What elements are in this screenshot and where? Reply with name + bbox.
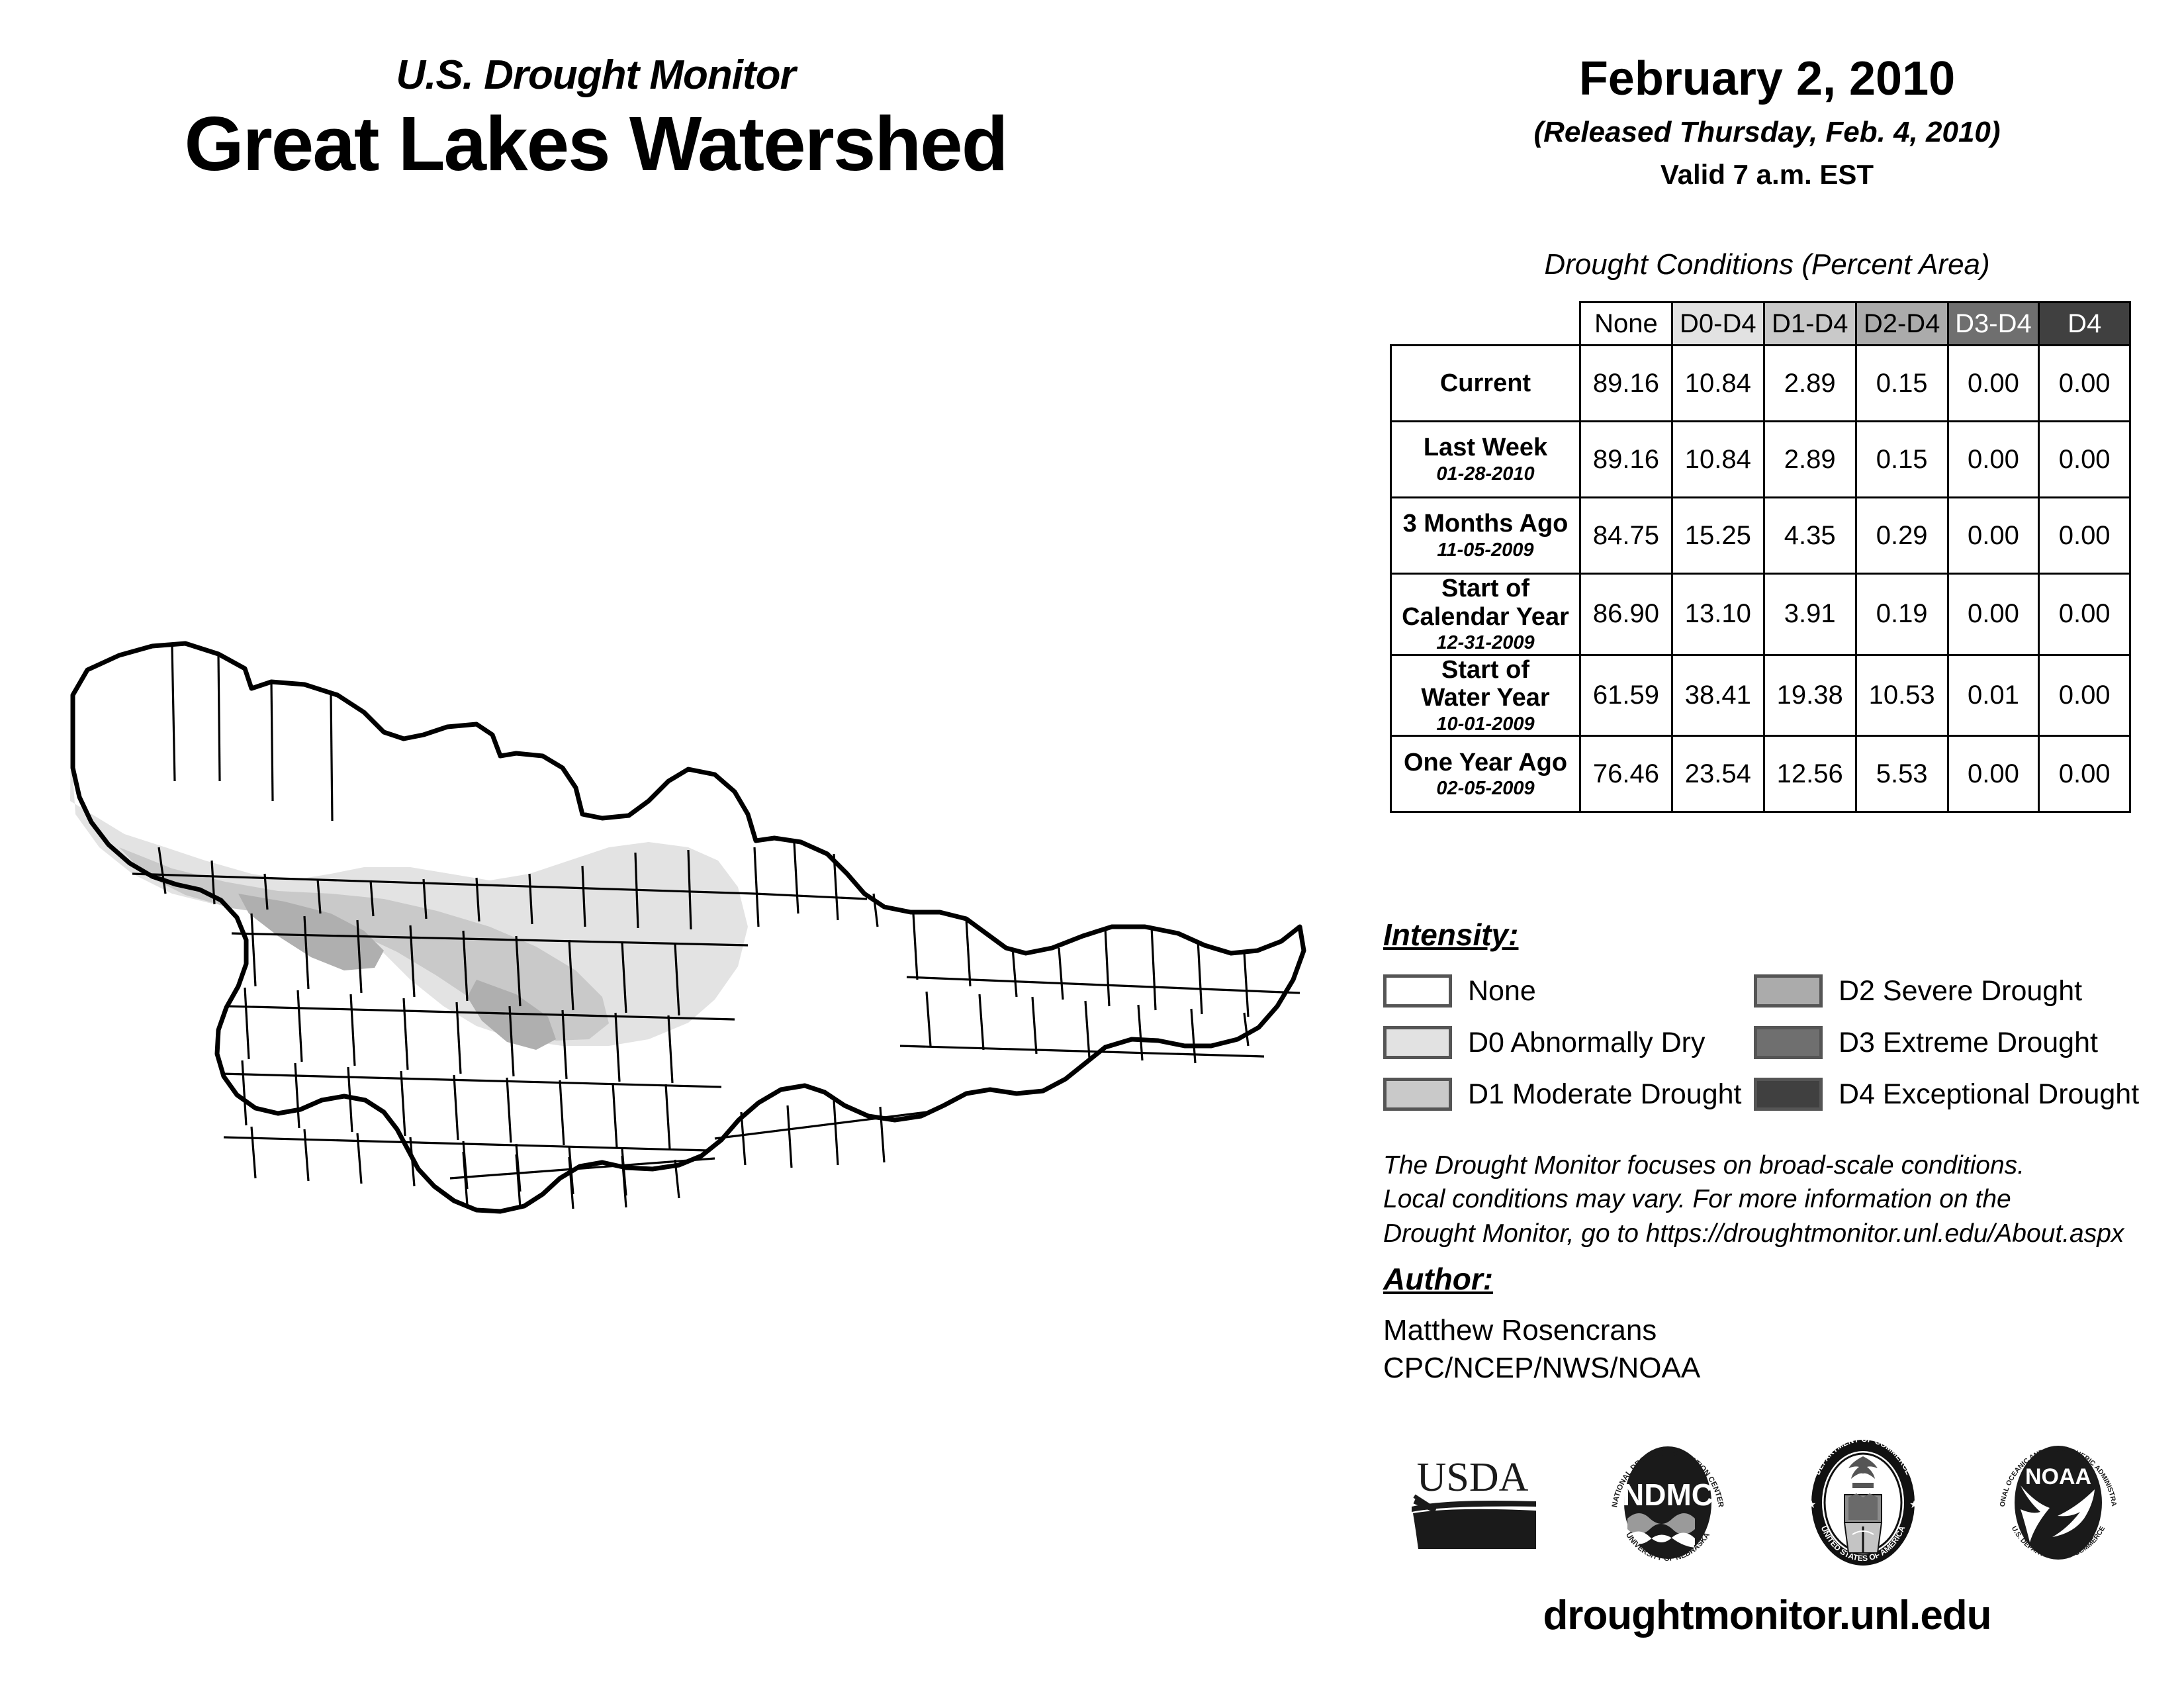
author-org: CPC/NCEP/NWS/NOAA xyxy=(1383,1352,1700,1385)
column-header-d4: D4 xyxy=(2039,303,2130,346)
legend-swatch xyxy=(1754,1078,1823,1111)
row-label-date: 10-01-2009 xyxy=(1392,714,1579,735)
row-label-text: 3 Months Ago xyxy=(1403,510,1569,538)
svg-text:NOAA: NOAA xyxy=(2025,1464,2091,1489)
valid-time: Valid 7 a.m. EST xyxy=(1377,159,2158,191)
cell-d1-d4: 2.89 xyxy=(1764,346,1856,422)
author-heading: Author: xyxy=(1383,1261,1493,1297)
intensity-legend: NoneD2 Severe DroughtD0 Abnormally DryD3… xyxy=(1383,965,2164,1120)
legend-item: D1 Moderate Drought xyxy=(1383,1068,1754,1120)
cell-none: 86.90 xyxy=(1580,574,1672,655)
cell-none: 61.59 xyxy=(1580,655,1672,736)
column-header-d2-d4: D2-D4 xyxy=(1856,303,1948,346)
row-label: One Year Ago02-05-2009 xyxy=(1391,736,1580,812)
cell-d1-d4: 12.56 xyxy=(1764,736,1856,812)
table-row: 3 Months Ago11-05-200984.7515.254.350.29… xyxy=(1391,498,2130,574)
cell-none: 89.16 xyxy=(1580,422,1672,498)
ndmc-logo: NDMC NATIONAL DROUGHT MITIGATION CENTER … xyxy=(1598,1436,1737,1569)
legend-label: D1 Moderate Drought xyxy=(1468,1078,1742,1111)
cell-d3-d4: 0.00 xyxy=(1948,736,2039,812)
column-header-none: None xyxy=(1580,303,1672,346)
cell-d4: 0.00 xyxy=(2039,736,2130,812)
cell-d4: 0.00 xyxy=(2039,655,2130,736)
drought-monitor-subtitle: U.S. Drought Monitor xyxy=(0,52,1191,99)
cell-d0-d4: 23.54 xyxy=(1672,736,1764,812)
cell-d2-d4: 0.15 xyxy=(1856,422,1948,498)
cell-d1-d4: 3.91 xyxy=(1764,574,1856,655)
cell-none: 89.16 xyxy=(1580,346,1672,422)
legend-item: D2 Severe Drought xyxy=(1754,965,2124,1017)
legend-item: D0 Abnormally Dry xyxy=(1383,1017,1754,1068)
row-label-text: Last Week xyxy=(1424,434,1547,461)
row-label: 3 Months Ago11-05-2009 xyxy=(1391,498,1580,574)
legend-swatch xyxy=(1754,974,1823,1008)
table-corner-cell xyxy=(1391,303,1580,346)
row-label-date: 12-31-2009 xyxy=(1392,632,1579,653)
cell-none: 84.75 xyxy=(1580,498,1672,574)
legend-item: D4 Exceptional Drought xyxy=(1754,1068,2124,1120)
release-date: (Released Thursday, Feb. 4, 2010) xyxy=(1377,116,2158,149)
table-caption: Drought Conditions (Percent Area) xyxy=(1377,248,2158,281)
row-label-text: Start ofCalendar Year xyxy=(1402,575,1569,631)
column-header-d0-d4: D0-D4 xyxy=(1672,303,1764,346)
page-title: Great Lakes Watershed xyxy=(0,99,1191,188)
cell-d2-d4: 0.15 xyxy=(1856,346,1948,422)
row-label: Start ofWater Year10-01-2009 xyxy=(1391,655,1580,736)
website-url: droughtmonitor.unl.edu xyxy=(1377,1592,2158,1639)
legend-label: D3 Extreme Drought xyxy=(1839,1027,2098,1059)
table-row: Start ofWater Year10-01-200961.5938.4119… xyxy=(1391,655,2130,736)
table-row: Current89.1610.842.890.150.000.00 xyxy=(1391,346,2130,422)
table-header-row: None D0-D4 D1-D4 D2-D4 D3-D4 D4 xyxy=(1391,303,2130,346)
cell-d4: 0.00 xyxy=(2039,346,2130,422)
cell-d2-d4: 0.29 xyxy=(1856,498,1948,574)
cell-d3-d4: 0.00 xyxy=(1948,574,2039,655)
noaa-logo: NOAA NATIONAL OCEANIC AND ATMOSPHERIC AD… xyxy=(1989,1436,2128,1569)
drought-conditions-table: None D0-D4 D1-D4 D2-D4 D3-D4 D4 Current8… xyxy=(1390,301,2131,813)
legend-item: D3 Extreme Drought xyxy=(1754,1017,2124,1068)
cell-d2-d4: 10.53 xyxy=(1856,655,1948,736)
cell-d0-d4: 38.41 xyxy=(1672,655,1764,736)
map-date: February 2, 2010 xyxy=(1377,52,2158,106)
legend-swatch xyxy=(1383,974,1452,1008)
cell-d0-d4: 10.84 xyxy=(1672,346,1764,422)
cell-d4: 0.00 xyxy=(2039,422,2130,498)
drought-shading-layer xyxy=(70,675,748,1050)
cell-d0-d4: 15.25 xyxy=(1672,498,1764,574)
legend-label: None xyxy=(1468,975,1536,1008)
legend-label: D0 Abnormally Dry xyxy=(1468,1027,1705,1059)
column-header-d1-d4: D1-D4 xyxy=(1764,303,1856,346)
row-label: Current xyxy=(1391,346,1580,422)
cell-none: 76.46 xyxy=(1580,736,1672,812)
row-label-date: 02-05-2009 xyxy=(1392,778,1579,799)
cell-d1-d4: 19.38 xyxy=(1764,655,1856,736)
cell-d2-d4: 0.19 xyxy=(1856,574,1948,655)
usda-logo: USDA xyxy=(1406,1450,1539,1556)
table-body: Current89.1610.842.890.150.000.00Last We… xyxy=(1391,346,2130,812)
row-label-date: 01-28-2010 xyxy=(1392,463,1579,485)
cell-d0-d4: 13.10 xyxy=(1672,574,1764,655)
disclaimer-text: The Drought Monitor focuses on broad-sca… xyxy=(1383,1149,2177,1250)
legend-swatch xyxy=(1754,1026,1823,1059)
row-label-text: Current xyxy=(1440,369,1531,397)
row-label-text: One Year Ago xyxy=(1404,749,1567,776)
svg-text:★: ★ xyxy=(1807,1499,1816,1511)
legend-label: D4 Exceptional Drought xyxy=(1839,1078,2139,1111)
svg-text:★: ★ xyxy=(1909,1499,1919,1511)
cell-d3-d4: 0.00 xyxy=(1948,422,2039,498)
intensity-legend-title: Intensity: xyxy=(1383,917,1518,953)
legend-swatch xyxy=(1383,1078,1452,1111)
table-row: Last Week01-28-201089.1610.842.890.150.0… xyxy=(1391,422,2130,498)
cell-d3-d4: 0.00 xyxy=(1948,498,2039,574)
agency-logos: USDA NDMC NATIONAL DROUGHT MITIGATION CE… xyxy=(1377,1436,2158,1569)
row-label-text: Start ofWater Year xyxy=(1421,656,1549,712)
cell-d4: 0.00 xyxy=(2039,574,2130,655)
row-label-date: 11-05-2009 xyxy=(1392,539,1579,561)
cell-d0-d4: 10.84 xyxy=(1672,422,1764,498)
row-label: Last Week01-28-2010 xyxy=(1391,422,1580,498)
legend-label: D2 Severe Drought xyxy=(1839,975,2082,1008)
great-lakes-watershed-map xyxy=(53,583,1324,1258)
doc-seal-logo: DEPARTMENT OF COMMERCE UNITED STATES OF … xyxy=(1797,1436,1929,1569)
table-row: Start ofCalendar Year12-31-200986.9013.1… xyxy=(1391,574,2130,655)
cell-d4: 0.00 xyxy=(2039,498,2130,574)
legend-item: None xyxy=(1383,965,1754,1017)
cell-d1-d4: 4.35 xyxy=(1764,498,1856,574)
legend-swatch xyxy=(1383,1026,1452,1059)
author-name: Matthew Rosencrans xyxy=(1383,1314,1657,1347)
cell-d3-d4: 0.01 xyxy=(1948,655,2039,736)
svg-text:USDA: USDA xyxy=(1417,1455,1529,1500)
table-row: One Year Ago02-05-200976.4623.5412.565.5… xyxy=(1391,736,2130,812)
cell-d1-d4: 2.89 xyxy=(1764,422,1856,498)
d0-drought-area xyxy=(70,675,748,1046)
svg-text:NDMC: NDMC xyxy=(1622,1477,1713,1512)
column-header-d3-d4: D3-D4 xyxy=(1948,303,2039,346)
row-label: Start ofCalendar Year12-31-2009 xyxy=(1391,574,1580,655)
cell-d2-d4: 5.53 xyxy=(1856,736,1948,812)
cell-d3-d4: 0.00 xyxy=(1948,346,2039,422)
